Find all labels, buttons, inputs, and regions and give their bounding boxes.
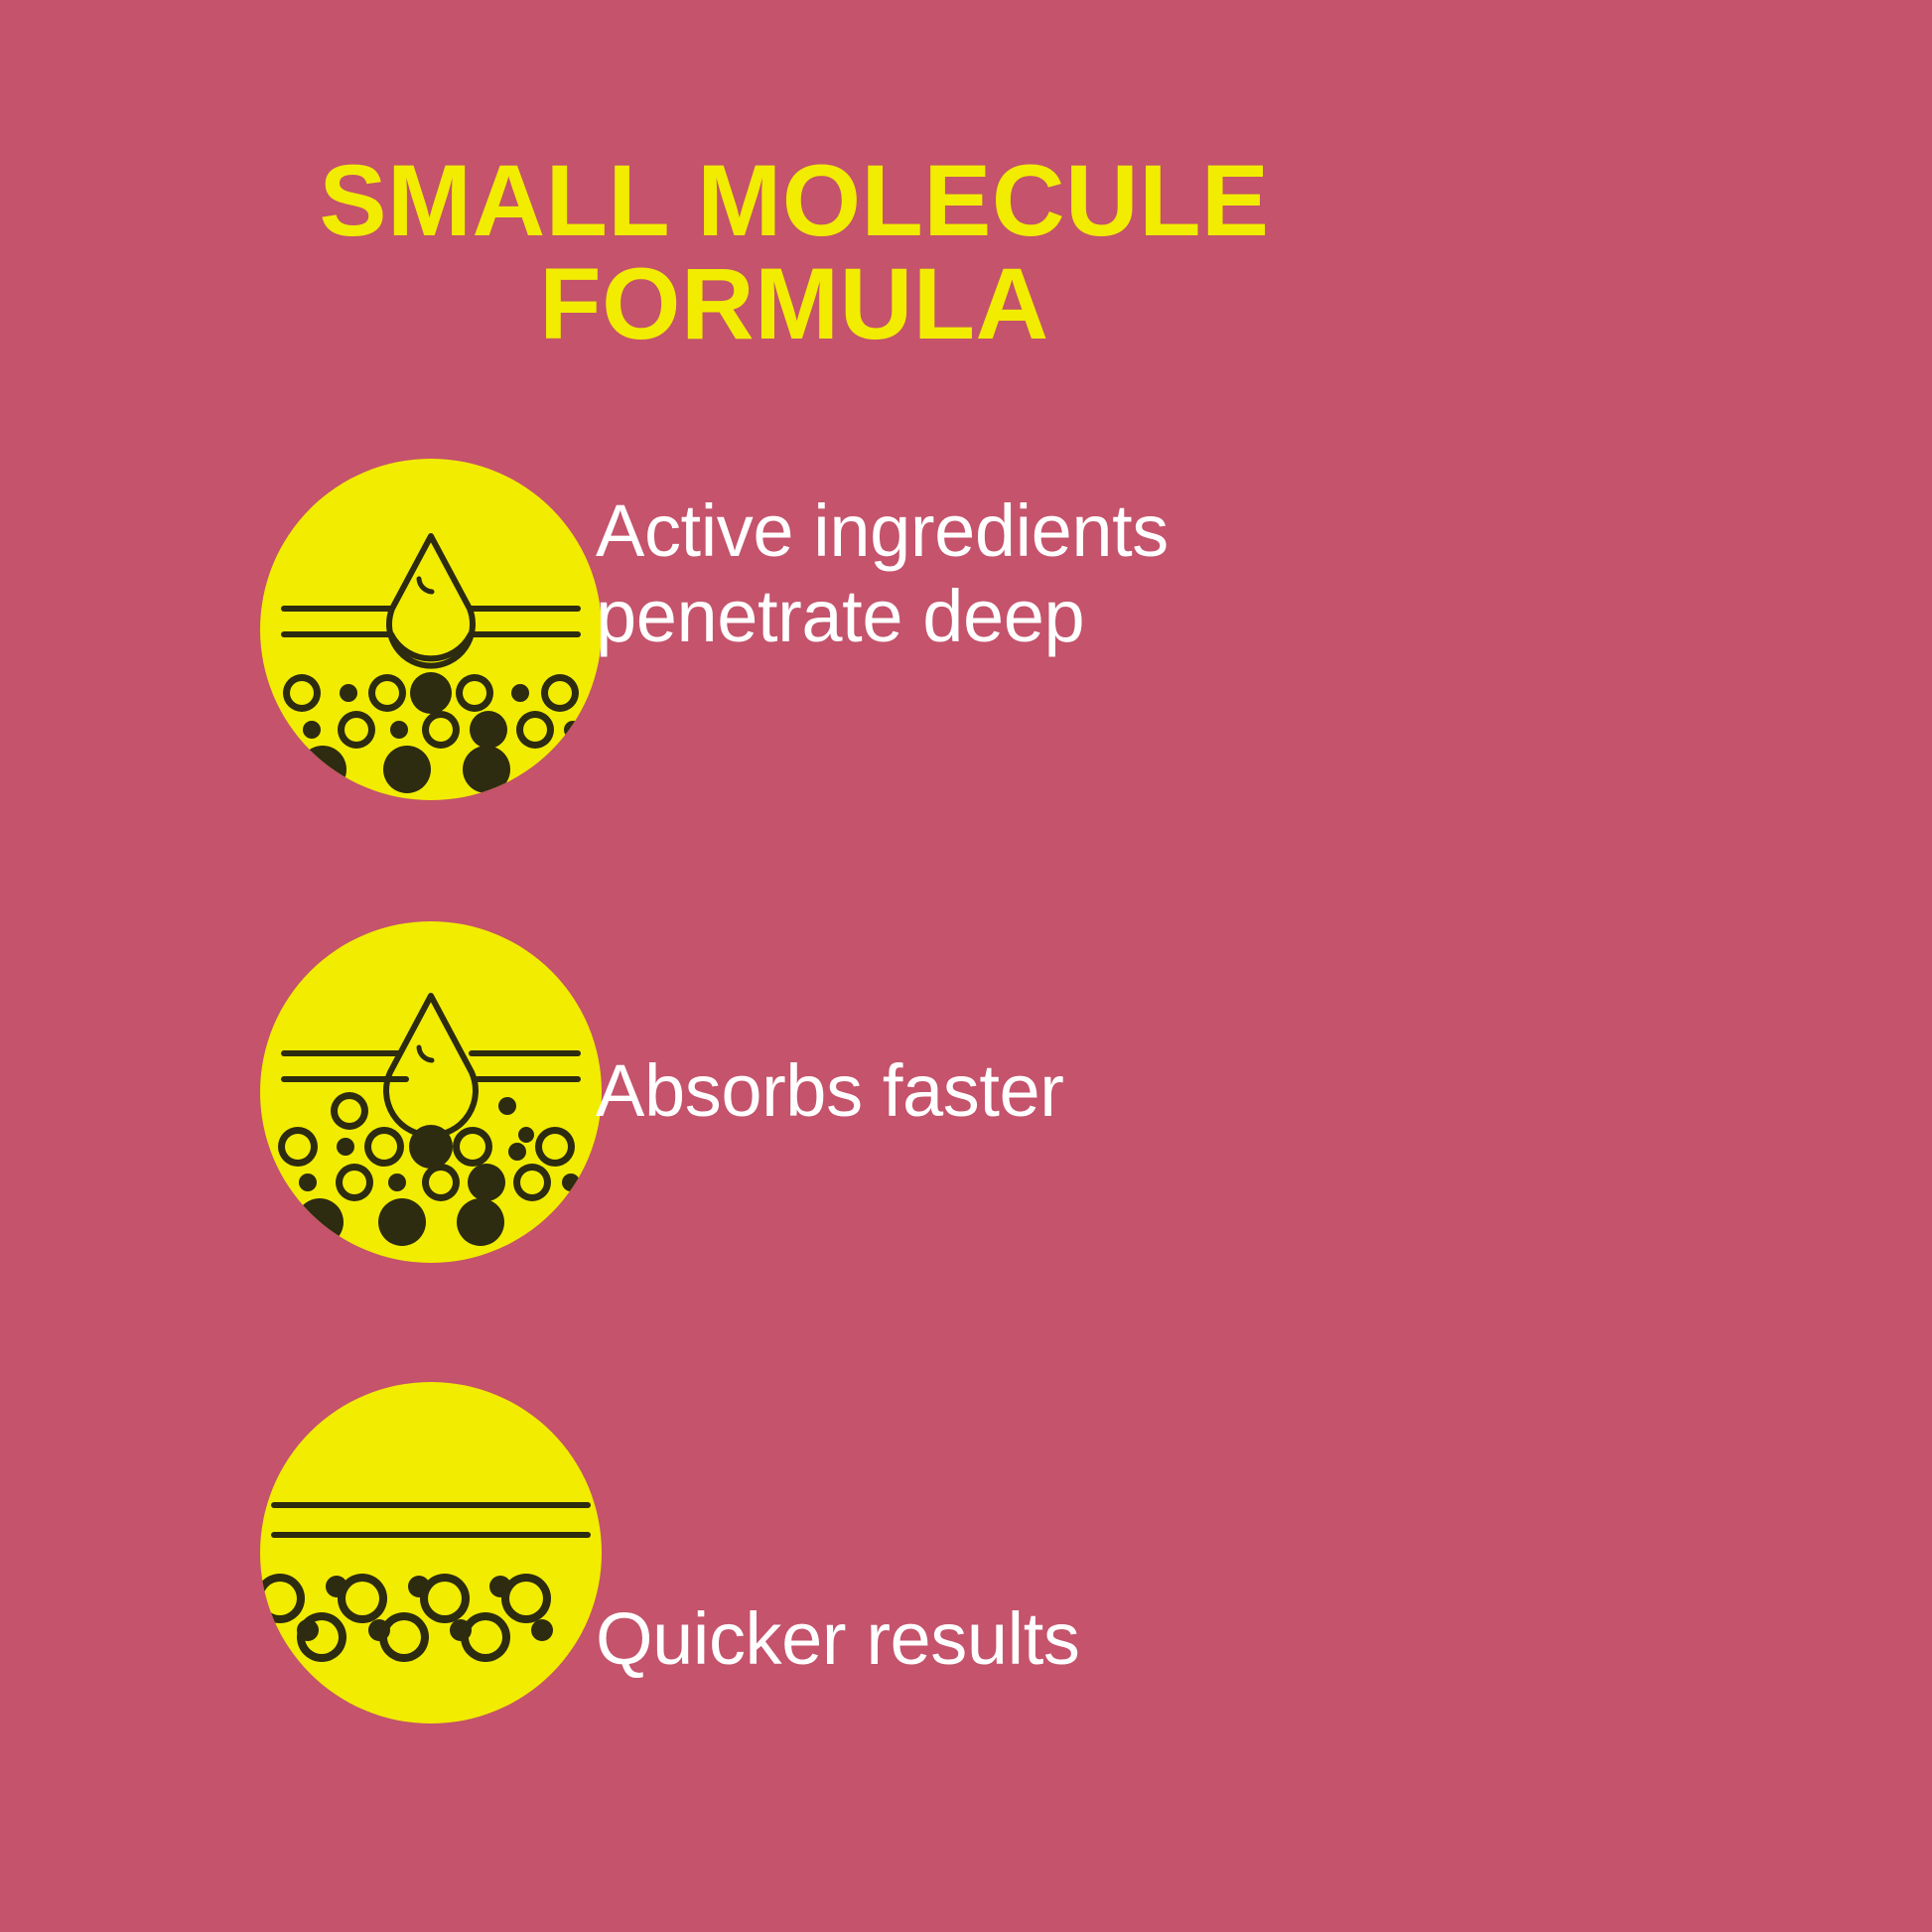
droplet-on-skin-surface-icon [260, 459, 602, 800]
feature-label-2-line-1: Absorbs faster [596, 1048, 1767, 1134]
feature-row-2: Absorbs faster [0, 921, 1932, 1263]
feature-label-3-line-1: Quicker results [596, 1596, 1767, 1682]
feature-label-1-line-1: Active ingredients [596, 488, 1767, 574]
infographic-canvas: SMALL MOLECULE FORMULA [0, 0, 1932, 1932]
page-title-line-1: SMALL MOLECULE [0, 149, 1588, 252]
feature-label-3: Quicker results [596, 1596, 1767, 1682]
molecules-under-skin-icon [260, 1382, 602, 1724]
feature-label-2: Absorbs faster [596, 1048, 1767, 1134]
page-title-line-2: FORMULA [0, 252, 1588, 355]
feature-label-1: Active ingredients penetrate deep [596, 488, 1767, 659]
feature-label-1-line-2: penetrate deep [596, 574, 1767, 659]
page-title: SMALL MOLECULE FORMULA [0, 149, 1588, 355]
feature-row-3: Quicker results [0, 1382, 1932, 1724]
feature-row-1: Active ingredients penetrate deep [0, 459, 1932, 800]
droplet-penetrating-skin-icon [260, 921, 602, 1263]
